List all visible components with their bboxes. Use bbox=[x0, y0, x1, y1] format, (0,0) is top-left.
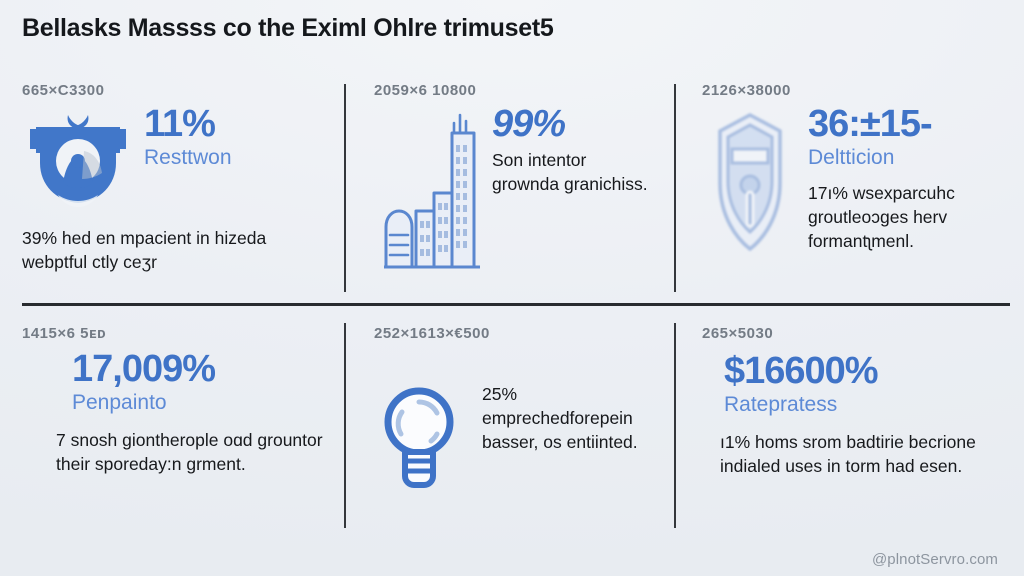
stat-card-1[interactable]: 665×C3300 bbox=[0, 70, 344, 305]
stat-card-2[interactable]: 2059×6 10800 bbox=[344, 70, 674, 305]
stat-card-2-value: 99% bbox=[492, 105, 656, 144]
city-skyline-icon bbox=[374, 105, 482, 273]
stat-card-grid: 665×C3300 bbox=[0, 70, 1024, 550]
stat-card-row-top: 665×C3300 bbox=[0, 70, 1024, 305]
stat-card-1-kicker: 665×C3300 bbox=[22, 82, 326, 99]
stat-card-2-description: Son intentor grownda granichiss. bbox=[492, 148, 656, 196]
watermark: @plnotServro.com bbox=[872, 551, 998, 568]
stat-card-4-label: Penpainto bbox=[72, 390, 326, 415]
stat-card-3[interactable]: 2126×38000 36:±15- Deltticion 17ı% w bbox=[674, 70, 1024, 305]
shield-lock-icon bbox=[702, 109, 798, 259]
stat-card-1-label: Resttwon bbox=[144, 145, 326, 170]
stat-card-3-description: 17ı% wsexparcuhc groutleoɔges herv forma… bbox=[808, 181, 1006, 253]
stat-card-3-value: 36:±15- bbox=[808, 105, 1006, 144]
stat-card-6-label: Ratepratess bbox=[724, 392, 1006, 417]
stat-card-3-label: Deltticion bbox=[808, 145, 1006, 170]
stat-card-5-description: 25% emprechedforepein basser, os entiint… bbox=[482, 382, 656, 454]
stat-card-4-description: 7 snosh giontherople oɑd grountor their … bbox=[22, 428, 326, 476]
stat-card-5[interactable]: 252×1613×€500 25% emprechedforepein bass… bbox=[344, 313, 674, 548]
stat-card-6-value: $16600% bbox=[724, 352, 1006, 391]
stat-card-1-description: 39% hed en mpacient in hizeda webptful c… bbox=[22, 226, 326, 274]
stat-card-2-kicker: 2059×6 10800 bbox=[374, 82, 656, 99]
stat-card-6[interactable]: 265×5030 $16600% Ratepratess ı1% homs sr… bbox=[674, 313, 1024, 548]
stat-card-3-kicker: 2126×38000 bbox=[702, 82, 1006, 99]
stat-card-1-value: 11% bbox=[144, 105, 326, 144]
stat-card-6-kicker: 265×5030 bbox=[702, 325, 1006, 342]
lightbulb-icon bbox=[374, 382, 464, 490]
stat-card-4-value: 17,009% bbox=[72, 350, 326, 389]
stat-card-4-kicker: 1415×6 5ᴇᴅ bbox=[22, 325, 326, 342]
stat-card-row-bottom: 1415×6 5ᴇᴅ 17,009% Penpainto 7 snosh gio… bbox=[0, 313, 1024, 548]
page-title: Bellasks Massss co the Eximl Ohlre trimu… bbox=[22, 14, 554, 43]
row-divider bbox=[22, 303, 1010, 306]
stat-card-5-kicker: 252×1613×€500 bbox=[374, 325, 656, 342]
stat-card-4[interactable]: 1415×6 5ᴇᴅ 17,009% Penpainto 7 snosh gio… bbox=[0, 313, 344, 548]
crest-badge-icon bbox=[22, 105, 134, 213]
stat-card-6-description: ı1% homs srom badtirie becrione indialed… bbox=[702, 430, 1006, 478]
